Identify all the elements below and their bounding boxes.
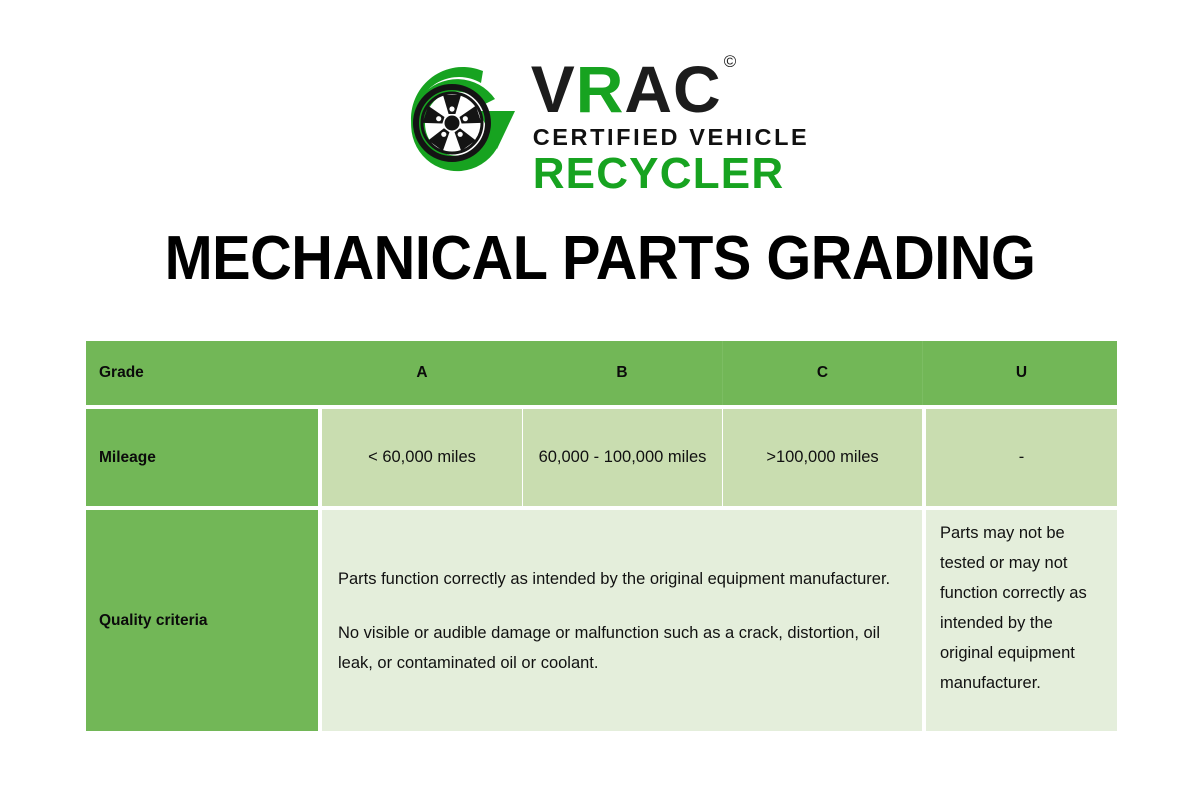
header-cell-grade-a: A (322, 341, 522, 405)
row-label-mileage: Mileage (86, 409, 318, 506)
header-cell-grade: Grade (86, 341, 322, 405)
logo-brand-line: RECYCLER (533, 151, 810, 197)
mileage-cell-a: < 60,000 miles (322, 409, 522, 506)
wordmark-letters-ac: AC (624, 52, 721, 126)
page-title: MECHANICAL PARTS GRADING (42, 222, 1158, 296)
logo-wordmark: VRAC© (531, 56, 810, 122)
brand-logo: VRAC© CERTIFIED VEHICLE RECYCLER (0, 50, 1200, 200)
mileage-cell-c: >100,000 miles (722, 409, 922, 506)
mileage-cell-u: - (926, 409, 1117, 506)
header-cell-grade-b: B (522, 341, 722, 405)
table-row-quality-criteria: Quality criteria Parts function correctl… (86, 510, 1117, 731)
table-row-mileage: Mileage < 60,000 miles 60,000 - 100,000 … (86, 409, 1117, 506)
header-cell-grade-u: U (926, 341, 1117, 405)
wordmark-letter-v: V (531, 52, 576, 126)
recycle-wheel-icon (391, 55, 523, 187)
quality-cell-u: Parts may not be tested or may not funct… (926, 510, 1117, 731)
mileage-cell-b: 60,000 - 100,000 miles (522, 409, 722, 506)
quality-paragraph-1: Parts function correctly as intended by … (338, 564, 902, 594)
mechanical-parts-grading-table: Grade A B C U Mileage < 60,000 miles 60,… (86, 341, 1117, 731)
table-header-row: Grade A B C U (86, 341, 1117, 405)
quality-cell-abc: Parts function correctly as intended by … (322, 510, 922, 731)
logo-tagline: CERTIFIED VEHICLE (533, 124, 810, 150)
header-cell-grade-c: C (722, 341, 922, 405)
wordmark-letter-r: R (576, 52, 625, 126)
row-label-quality-criteria: Quality criteria (86, 510, 318, 731)
quality-paragraph-2: No visible or audible damage or malfunct… (338, 618, 902, 678)
copyright-icon: © (724, 52, 738, 71)
